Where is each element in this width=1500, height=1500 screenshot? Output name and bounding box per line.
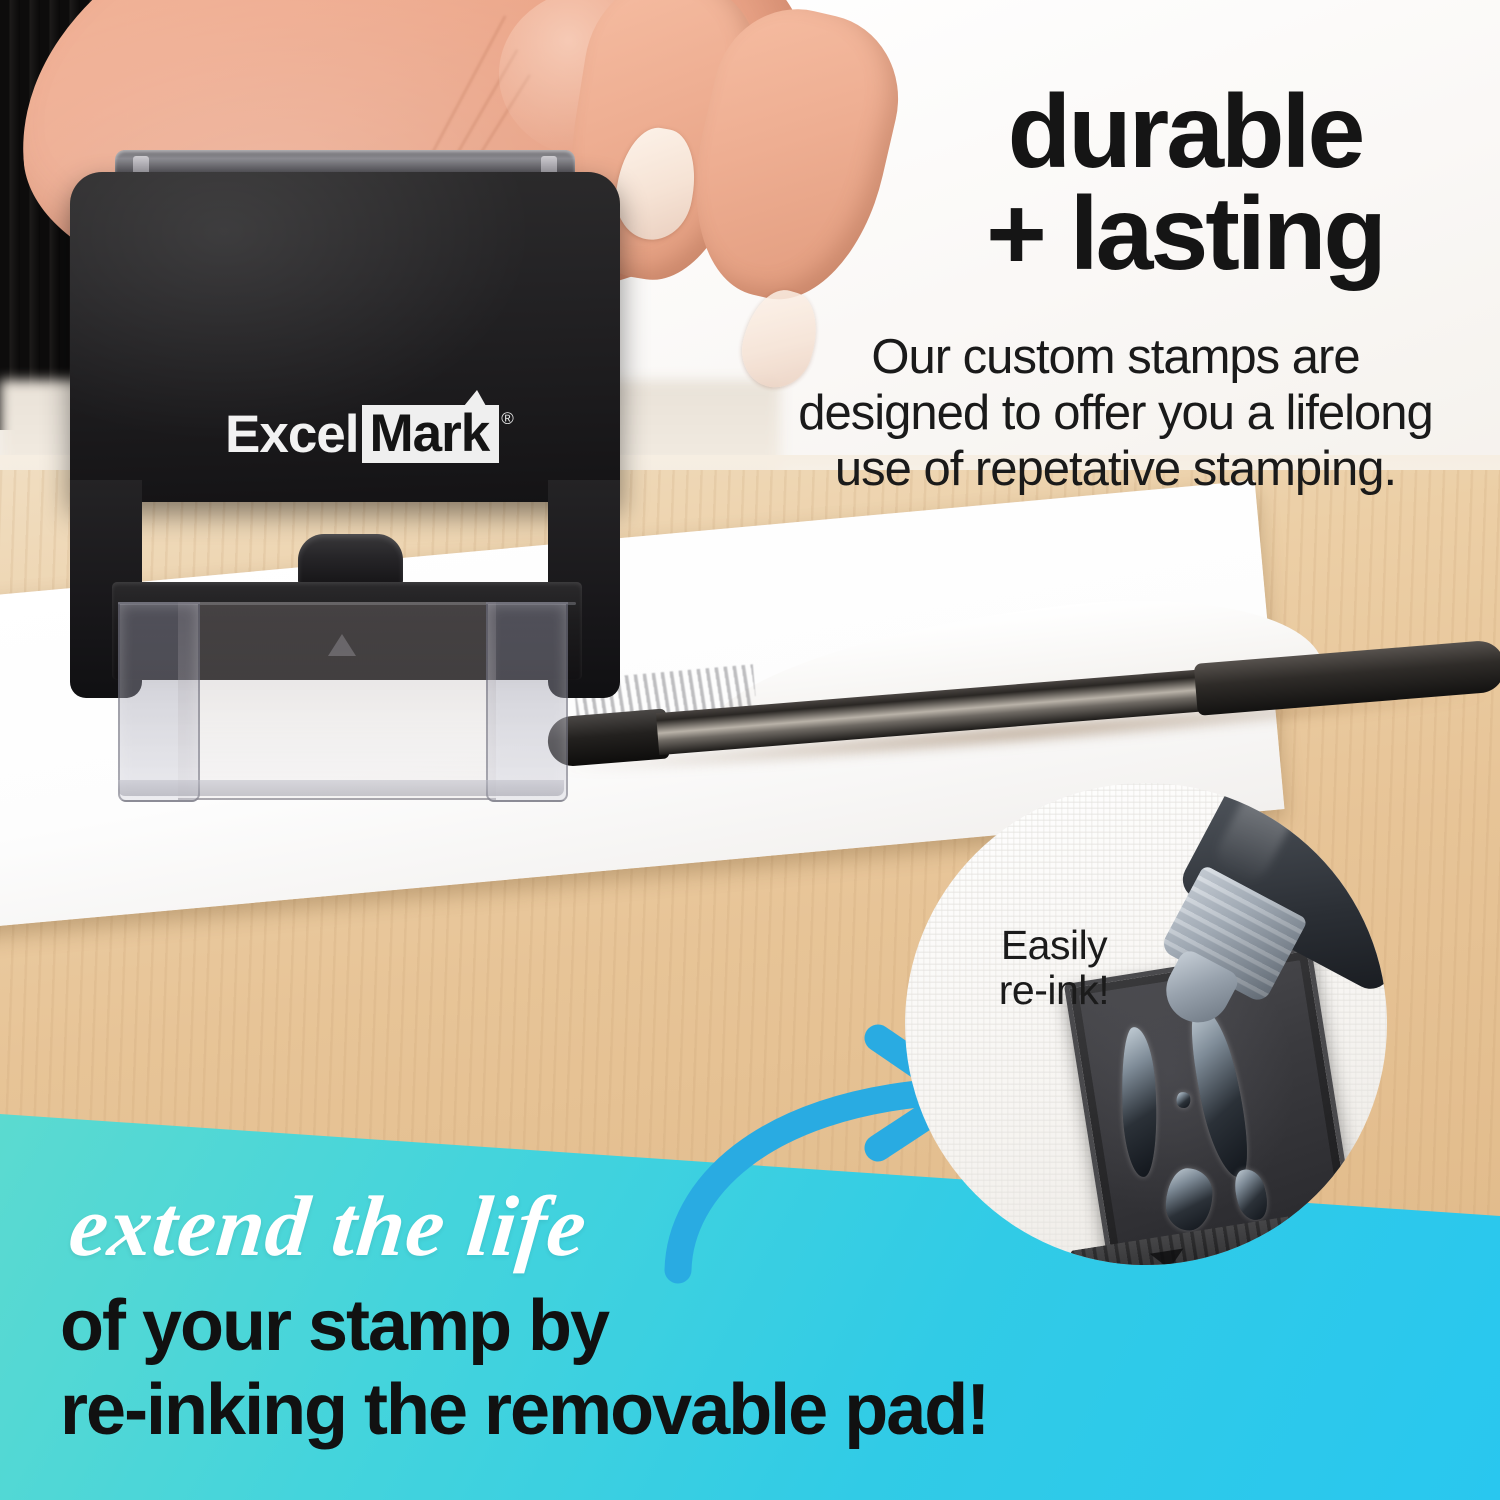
registered-trademark-icon: ® — [501, 409, 514, 429]
product-marketing-image: Excel Mark ® — [0, 0, 1500, 1500]
logo-excel-text: Excel — [225, 408, 359, 461]
inset-callout-text: Easily re-ink! — [949, 923, 1159, 1013]
banner-bold-line-1: of your stamp by — [60, 1285, 1220, 1369]
headline-line-1: durable — [880, 82, 1490, 184]
banner-script-headline: extend the life — [65, 1183, 591, 1269]
body-copy: Our custom stamps are designed to offer … — [788, 330, 1443, 498]
stamp-thumb-knob — [298, 534, 403, 586]
inset-callout-line2: re-ink! — [949, 968, 1159, 1013]
inset-callout-line1: Easily — [949, 923, 1159, 968]
stamp-inner-window — [178, 602, 496, 800]
stamp-leg-left — [118, 602, 200, 802]
reink-circle-inset: Easily re-ink! — [905, 783, 1387, 1265]
excelmark-logo: Excel Mark ® — [225, 405, 514, 463]
logo-mark-box: Mark — [362, 405, 500, 463]
self-inking-stamp: Excel Mark ® — [60, 150, 630, 770]
logo-mark-text: Mark — [370, 404, 490, 463]
stamp-foot — [118, 780, 564, 796]
page-headline: durable + lasting — [880, 82, 1490, 286]
headline-line-2: + lasting — [880, 184, 1490, 286]
banner-bold-copy: of your stamp by re-inking the removable… — [60, 1285, 1220, 1452]
stamp-leg-right — [486, 602, 568, 802]
banner-bold-line-2: re-inking the removable pad! — [60, 1369, 1220, 1453]
